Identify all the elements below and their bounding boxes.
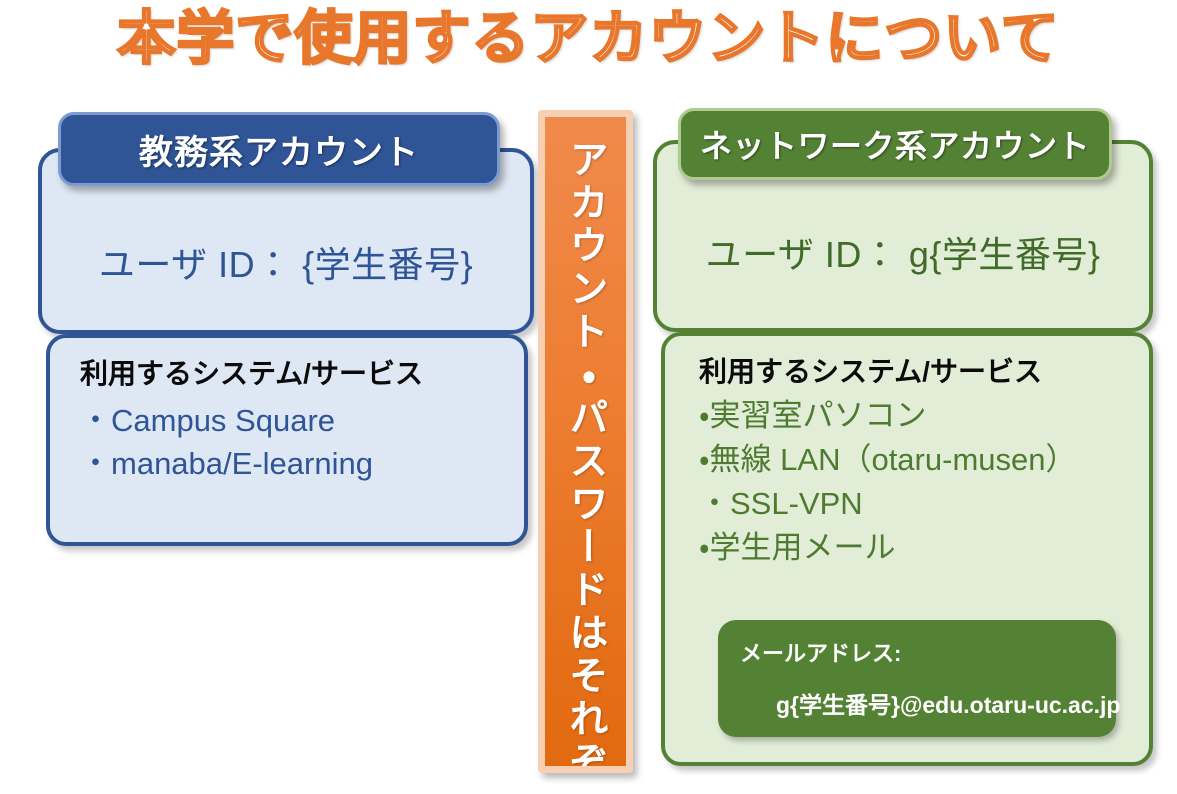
network-account-user-id: ユーザ ID： g{学生番号} bbox=[657, 226, 1149, 278]
network-account-header-chip: ネットワーク系アカウント bbox=[678, 108, 1112, 180]
email-address-value: g{学生番号}@edu.otaru-uc.ac.jp bbox=[776, 686, 1120, 720]
password-notice-banner: アカウント・パスワードはそれぞれ異なります bbox=[538, 110, 633, 773]
list-item: ・Campus Square bbox=[80, 400, 516, 443]
list-item: ・実習室パソコン bbox=[699, 394, 1143, 438]
page-title: 本学で使用するアカウントについて bbox=[0, 6, 1177, 73]
academic-account-header-chip: 教務系アカウント bbox=[58, 112, 500, 186]
list-item: ・manaba/E-learning bbox=[80, 443, 516, 486]
academic-account-services-panel: 利用するシステム/サービス ・Campus Square ・manaba/E-l… bbox=[46, 334, 528, 546]
list-item: ・SSL-VPN bbox=[699, 482, 1143, 526]
list-item: ・無線 LAN（otaru-musen） bbox=[699, 438, 1143, 482]
academic-account-user-id: ユーザ ID： {学生番号} bbox=[42, 236, 530, 288]
network-services-list: ・実習室パソコン ・無線 LAN（otaru-musen） ・SSL-VPN ・… bbox=[699, 394, 1143, 570]
academic-account-header-label: 教務系アカウント bbox=[139, 125, 419, 174]
academic-services-list: ・Campus Square ・manaba/E-learning bbox=[80, 400, 516, 486]
network-account-header-label: ネットワーク系アカウント bbox=[700, 121, 1090, 167]
email-address-label: メールアドレス: bbox=[740, 636, 901, 668]
list-item: ・学生用メール bbox=[699, 526, 1143, 570]
network-services-content: 利用するシステム/サービス ・実習室パソコン ・無線 LAN（otaru-mus… bbox=[699, 350, 1143, 570]
password-notice-text: アカウント・パスワードはそれぞれ異なります bbox=[566, 139, 605, 773]
academic-services-content: 利用するシステム/サービス ・Campus Square ・manaba/E-l… bbox=[80, 352, 516, 486]
academic-services-title: 利用するシステム/サービス bbox=[80, 352, 516, 392]
network-services-title: 利用するシステム/サービス bbox=[699, 350, 1143, 390]
student-email-callout: メールアドレス: g{学生番号}@edu.otaru-uc.ac.jp bbox=[718, 620, 1116, 737]
